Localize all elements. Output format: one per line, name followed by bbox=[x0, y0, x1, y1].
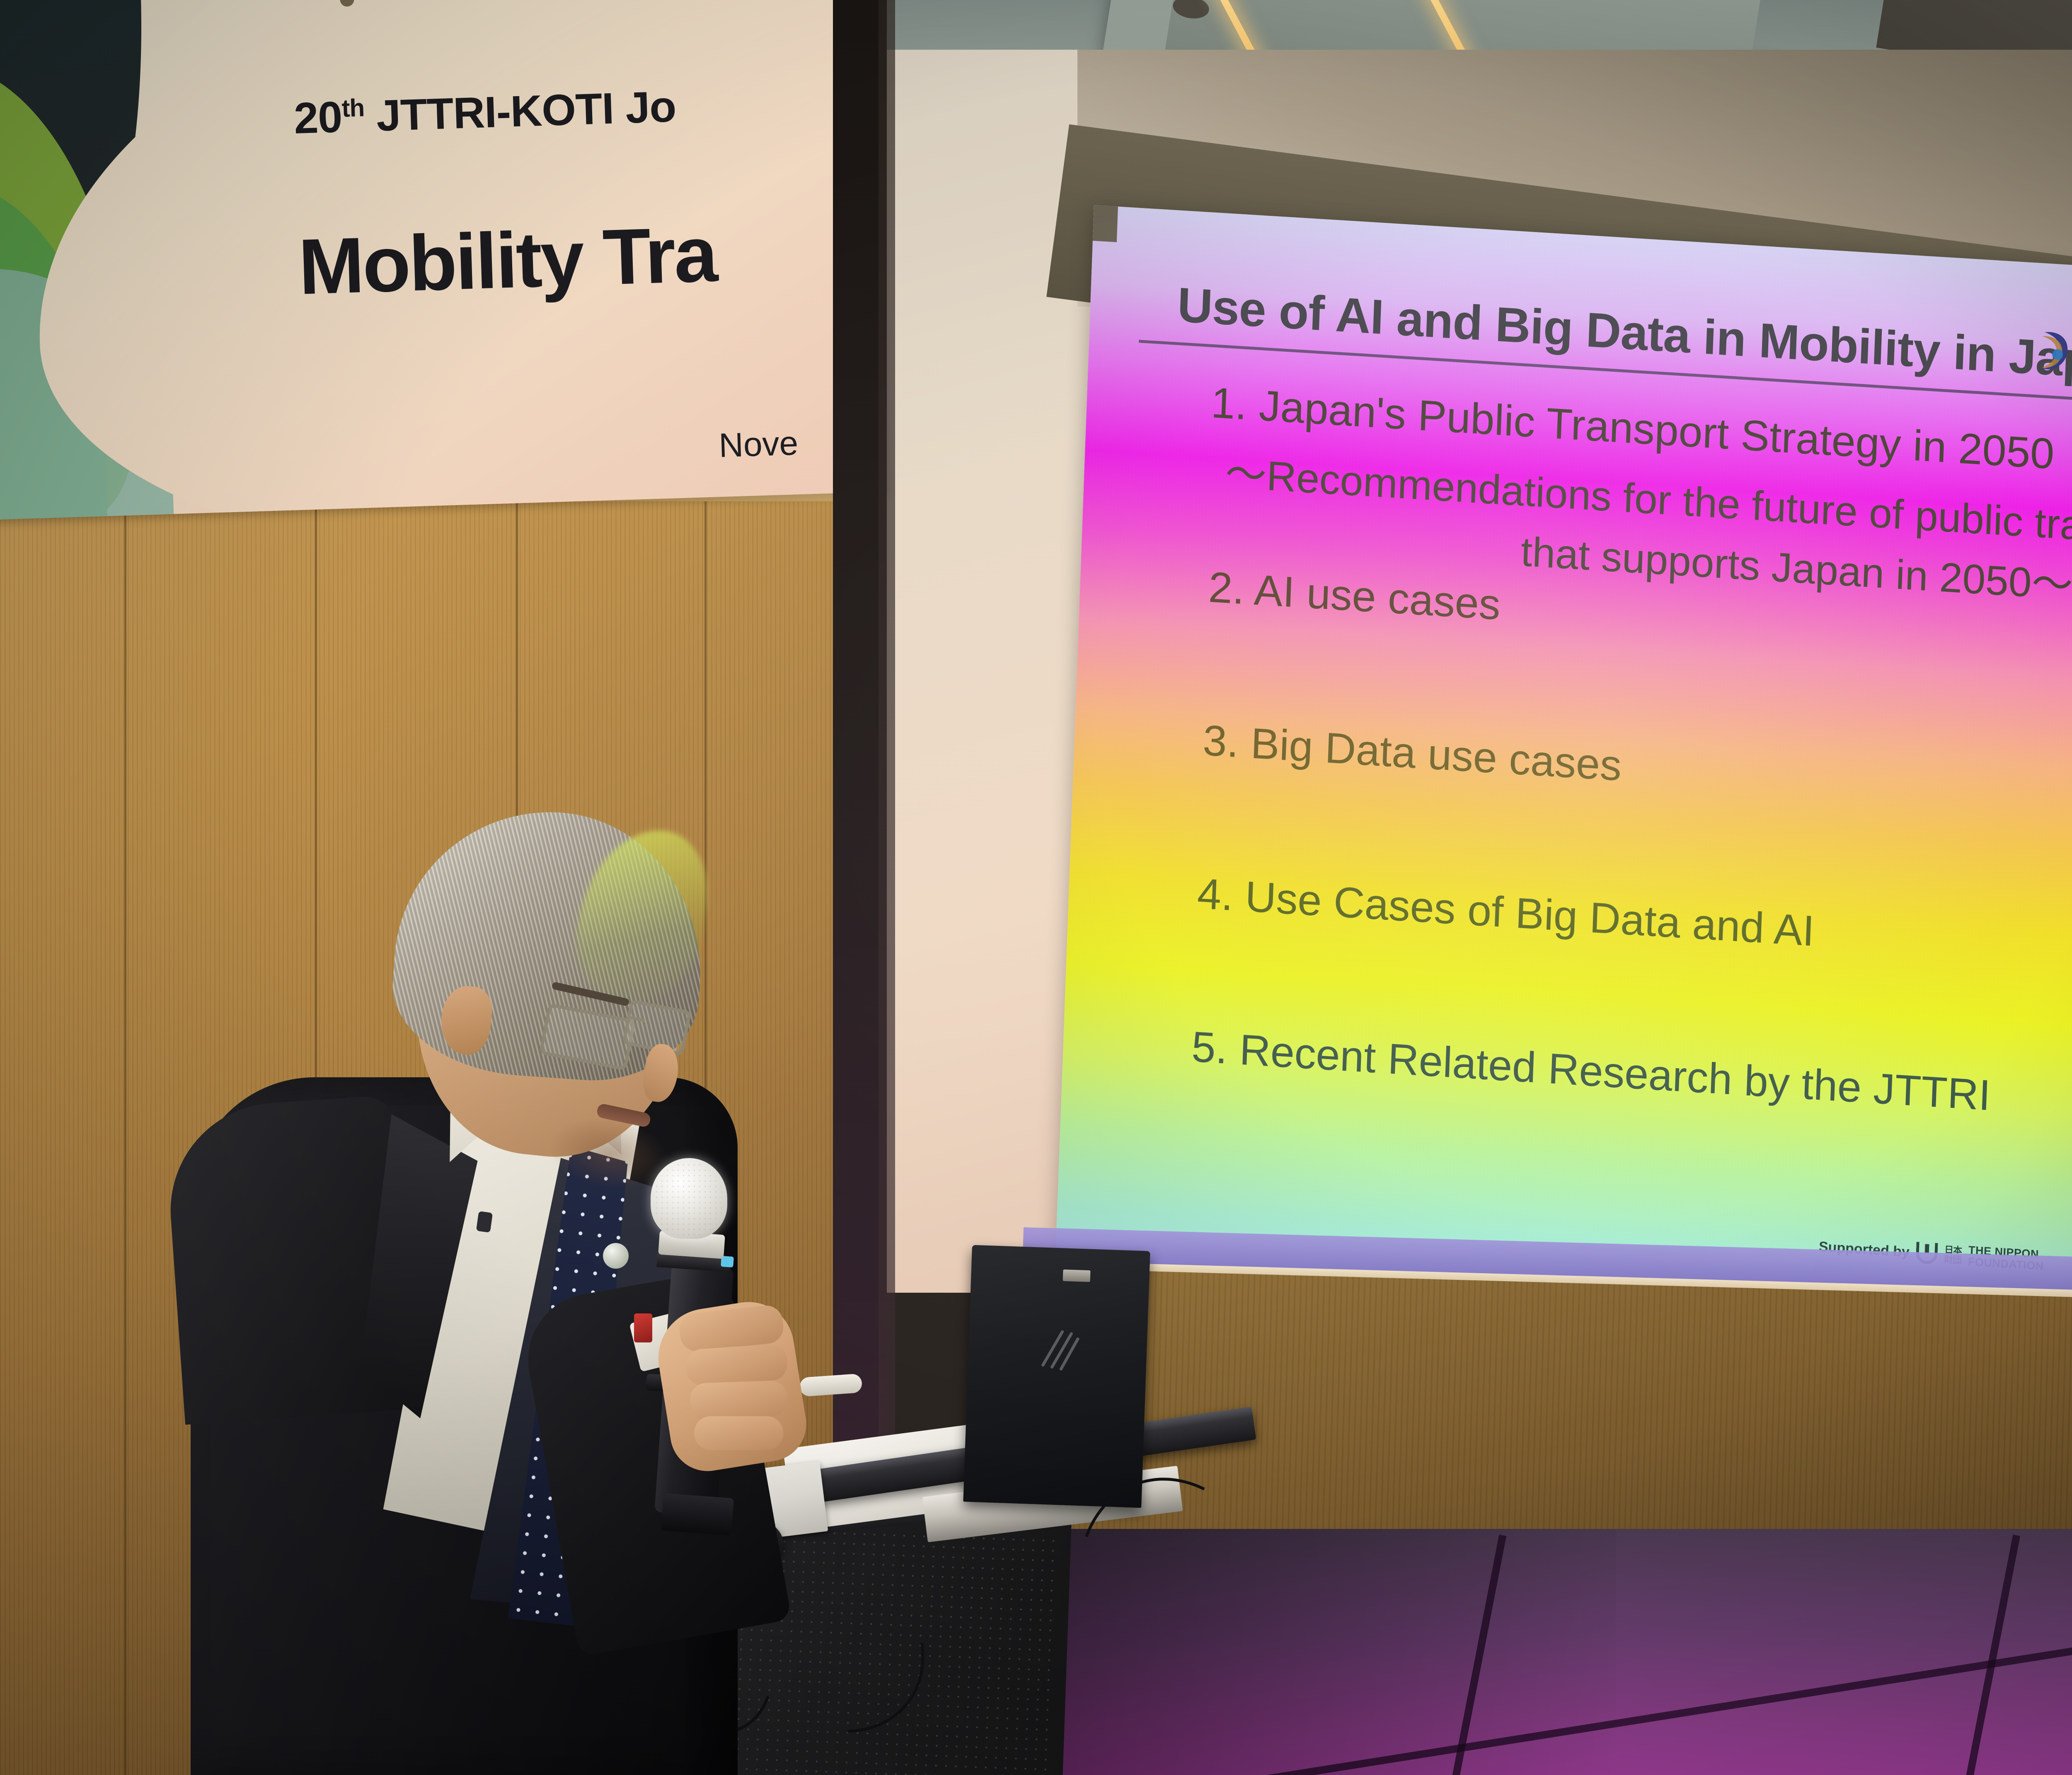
banner-edition-suffix: th bbox=[341, 94, 365, 122]
microphone-base bbox=[661, 1493, 734, 1536]
banner-main-title: Mobility Tra bbox=[297, 209, 717, 312]
hp-logo-icon bbox=[1035, 1325, 1082, 1374]
banner-edition-number: 20 bbox=[293, 92, 343, 143]
dark-divider-column-edge bbox=[879, 0, 895, 1641]
laptop-lid[interactable] bbox=[963, 1245, 1150, 1508]
banner-edition-rest: JTTRI-KOTI Jo bbox=[364, 82, 677, 141]
projection-screen: Use of AI and Big Data in Mobility in Ja… bbox=[1053, 205, 2072, 1390]
banner-date-line: Nove bbox=[718, 424, 799, 465]
photo-scene: 20th JTTRI-KOTI Jo Mobility Tra Nove Use… bbox=[0, 0, 2072, 1775]
screen-vignette bbox=[1053, 205, 2072, 1390]
speaker-finger bbox=[685, 1343, 789, 1387]
microphone-mesh-texture bbox=[654, 1162, 724, 1236]
event-banner: 20th JTTRI-KOTI Jo Mobility Tra Nove bbox=[0, 0, 886, 520]
speaker-lapel-pin bbox=[603, 1243, 629, 1269]
speaker-collar-button bbox=[476, 1211, 493, 1233]
speaker-lapel-pin bbox=[634, 1313, 652, 1342]
speaker-finger bbox=[694, 1416, 783, 1450]
laptop-badge bbox=[1063, 1270, 1091, 1282]
speaker-finger bbox=[690, 1380, 788, 1419]
